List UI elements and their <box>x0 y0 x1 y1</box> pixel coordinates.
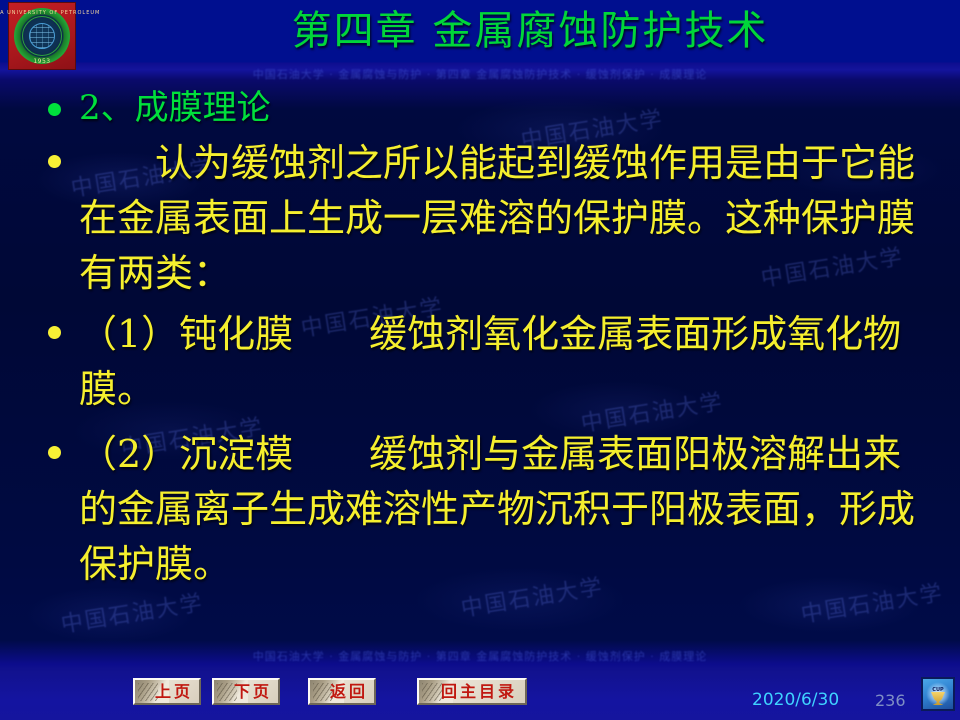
paragraph-text: 2、成膜理论 <box>79 84 932 132</box>
slide-content: 2、成膜理论 认为缓蚀剂之所以能起到缓蚀作用是由于它能在金属表面上生成一层难溶的… <box>0 84 960 598</box>
bullet-point-icon <box>48 446 61 459</box>
main-menu-label: 回主目录 <box>419 680 525 703</box>
paragraph-text: 认为缓蚀剂之所以能起到缓蚀作用是由于它能在金属表面上生成一层难溶的保护膜。这种保… <box>79 136 932 301</box>
content-paragraph: （1）钝化膜 缓蚀剂氧化金属表面形成氧化物膜。 <box>0 307 960 417</box>
bullet-point-icon <box>48 103 61 116</box>
main-menu-button[interactable]: 回主目录 <box>417 678 527 705</box>
prev-page-label: 上页 <box>135 680 199 703</box>
paragraph-text: （1）钝化膜 缓蚀剂氧化金属表面形成氧化物膜。 <box>79 307 932 417</box>
content-paragraph: （2）沉淀模 缓蚀剂与金属表面阳极溶解出来的金属离子生成难溶性产物沉积于阳极表面… <box>0 427 960 592</box>
bullet-point-icon <box>48 326 61 339</box>
slide-date: 2020/6/30 <box>752 690 839 710</box>
next-page-label: 下页 <box>214 680 278 703</box>
logo-globe-icon <box>29 23 55 49</box>
slide: 中国石油大学 中国石油大学 中国石油大学 中国石油大学 中国石油大学 中国石油大… <box>0 0 960 720</box>
paragraph-text: （2）沉淀模 缓蚀剂与金属表面阳极溶解出来的金属离子生成难溶性产物沉积于阳极表面… <box>79 427 932 592</box>
next-page-button[interactable]: 下页 <box>212 678 280 705</box>
prev-page-button[interactable]: 上页 <box>133 678 201 705</box>
slide-title: 第四章 金属腐蚀防护技术 <box>170 2 890 60</box>
logo-arc-text: CHINA UNIVERSITY OF PETROLEUM <box>0 10 100 16</box>
logo-inner-ring <box>22 16 62 56</box>
slide-page-number: 236 <box>875 691 906 710</box>
bullet-point-icon <box>48 155 61 168</box>
university-crest-icon[interactable]: CUP <box>921 677 955 711</box>
back-button[interactable]: 返回 <box>308 678 376 705</box>
university-logo-icon: CHINA UNIVERSITY OF PETROLEUM 1953 <box>8 2 76 70</box>
slide-header: CHINA UNIVERSITY OF PETROLEUM 1953 第四章 金… <box>0 0 960 62</box>
back-label: 返回 <box>310 680 374 703</box>
logo-year: 1953 <box>33 58 50 65</box>
content-paragraph: 2、成膜理论 <box>0 84 960 132</box>
content-paragraph: 认为缓蚀剂之所以能起到缓蚀作用是由于它能在金属表面上生成一层难溶的保护膜。这种保… <box>0 136 960 301</box>
